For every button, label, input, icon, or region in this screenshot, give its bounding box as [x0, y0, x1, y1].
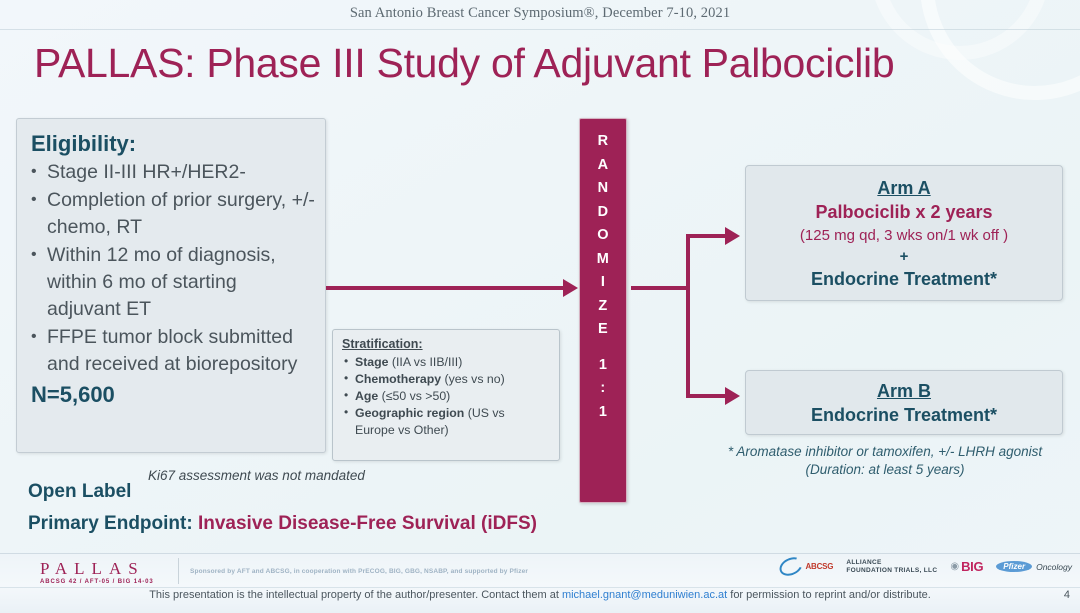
disclaimer-text: This presentation is the intellectual pr… — [0, 589, 1080, 601]
primary-endpoint: Primary Endpoint: Invasive Disease-Free … — [28, 513, 537, 535]
pallas-logo-wordmark: PALLAS — [40, 560, 154, 578]
arm-a-dose: (125 mg qd, 3 wks on/1 wk off ) — [746, 225, 1062, 247]
stratification-factor-detail: (yes vs no) — [445, 372, 505, 386]
randomize-letter: M — [597, 248, 609, 272]
randomize-letter: O — [597, 224, 609, 248]
abcsg-logo: ABCSG — [779, 558, 833, 575]
primary-endpoint-value: Invasive Disease-Free Survival (iDFS) — [198, 513, 537, 534]
big-globe-icon: ◉ — [950, 561, 959, 572]
arm-a-box: Arm A Palbociclib x 2 years (125 mg qd, … — [745, 165, 1063, 301]
arm-footnote: * Aromatase inhibitor or tamoxifen, +/- … — [700, 443, 1070, 479]
randomize-ratio-char: 1 — [599, 354, 607, 378]
arrow-to-arm-a-icon — [686, 234, 736, 238]
arm-b-box: Arm B Endocrine Treatment* — [745, 370, 1063, 435]
footer-divider — [0, 587, 1080, 588]
stratification-factor-detail: (≤50 vs >50) — [382, 389, 451, 403]
alliance-logo-line1: ALLIANCE — [846, 559, 937, 567]
randomize-letter: E — [598, 318, 608, 342]
randomize-letter: N — [598, 177, 609, 201]
stratification-box: Stratification: Stage (IIA vs IIB/III) C… — [332, 329, 560, 461]
page-title: PALLAS: Phase III Study of Adjuvant Palb… — [34, 40, 1054, 87]
eligibility-heading: Eligibility: — [31, 131, 315, 157]
arm-a-endocrine: Endocrine Treatment* — [746, 267, 1062, 291]
list-item: Age (≤50 vs >50) — [342, 388, 551, 405]
open-label-text: Open Label — [28, 481, 131, 503]
arm-a-heading: Arm A — [746, 177, 1062, 200]
arm-footnote-line1: * Aromatase inhibitor or tamoxifen, +/- … — [700, 443, 1070, 461]
arrow-right-icon — [326, 286, 574, 290]
big-logo-text: BIG — [961, 559, 983, 574]
randomize-letter: R — [598, 130, 609, 154]
stratification-heading: Stratification: — [342, 337, 551, 351]
alliance-foundation-trials-logo: ALLIANCE FOUNDATION TRIALS, LLC — [846, 559, 937, 575]
list-item: Chemotherapy (yes vs no) — [342, 371, 551, 388]
disclaimer-after: for permission to reprint and/or distrib… — [727, 589, 931, 601]
eligibility-sample-size: N=5,600 — [31, 382, 315, 408]
footer-logo-group: ABCSG ALLIANCE FOUNDATION TRIALS, LLC ◉ … — [779, 558, 1072, 575]
pfizer-oncology-label: Oncology — [1036, 562, 1072, 572]
randomize-letter: I — [601, 271, 605, 295]
pfizer-oncology-logo: Pfizer Oncology — [996, 561, 1072, 572]
list-item: FFPE tumor block submitted and received … — [31, 324, 315, 378]
stratification-list: Stage (IIA vs IIB/III) Chemotherapy (yes… — [342, 354, 551, 422]
randomize-letter: A — [598, 154, 609, 178]
arm-a-drug: Palbociclib x 2 years — [746, 200, 1062, 225]
stratification-factor-detail: (US vs — [468, 406, 505, 420]
slide: San Antonio Breast Cancer Symposium®, De… — [0, 0, 1080, 613]
arm-b-heading: Arm B — [746, 380, 1062, 403]
arm-footnote-line2: (Duration: at least 5 years) — [700, 461, 1070, 479]
stratification-factor-label: Age — [355, 389, 378, 403]
branch-stem-icon — [631, 286, 688, 290]
list-item: Geographic region (US vs — [342, 405, 551, 422]
randomize-letter: D — [598, 201, 609, 225]
pfizer-logo-text: Pfizer — [996, 561, 1032, 572]
list-item: Stage (IIA vs IIB/III) — [342, 354, 551, 371]
arrow-to-arm-b-icon — [686, 394, 736, 398]
arm-a-plus-symbol: + — [746, 247, 1062, 267]
sponsor-text: Sponsored by AFT and ABCSG, in cooperati… — [190, 568, 528, 575]
pallas-logo: PALLAS ABCSG 42 / AFT-05 / BIG 14-03 — [40, 560, 154, 587]
randomize-ratio-char: : — [600, 377, 605, 401]
stratification-continuation: Europe vs Other) — [342, 422, 551, 439]
presenter-email-link[interactable]: michael.gnant@meduniwien.ac.at — [562, 589, 727, 601]
alliance-logo-line2: FOUNDATION TRIALS, LLC — [846, 567, 937, 575]
branch-vertical-icon — [686, 236, 690, 398]
ki67-note: Ki67 assessment was not mandated — [148, 468, 365, 483]
slide-number: 4 — [1064, 589, 1070, 601]
primary-endpoint-label: Primary Endpoint: — [28, 513, 198, 534]
list-item: Within 12 mo of diagnosis, within 6 mo o… — [31, 242, 315, 323]
eligibility-list: Stage II-III HR+/HER2- Completion of pri… — [31, 159, 315, 378]
conference-header: San Antonio Breast Cancer Symposium®, De… — [0, 5, 1080, 22]
big-logo: ◉ BIG — [950, 559, 983, 574]
randomize-bar: R A N D O M I Z E 1 : 1 — [579, 118, 627, 503]
stratification-factor-label: Geographic region — [355, 406, 464, 420]
pallas-logo-subtitle: ABCSG 42 / AFT-05 / BIG 14-03 — [40, 578, 154, 587]
randomize-ratio-char: 1 — [599, 401, 607, 425]
list-item: Stage II-III HR+/HER2- — [31, 159, 315, 186]
stratification-factor-label: Stage — [355, 355, 389, 369]
header-divider — [0, 29, 1080, 30]
eligibility-box: Eligibility: Stage II-III HR+/HER2- Comp… — [16, 118, 326, 453]
abcsg-logo-text: ABCSG — [805, 562, 833, 571]
stratification-factor-label: Chemotherapy — [355, 372, 441, 386]
footer-logo-divider — [178, 558, 179, 584]
stratification-factor-detail: (IIA vs IIB/III) — [392, 355, 462, 369]
disclaimer-before: This presentation is the intellectual pr… — [149, 589, 562, 601]
randomize-letter: Z — [598, 295, 607, 319]
list-item: Completion of prior surgery, +/- chemo, … — [31, 187, 315, 241]
arm-b-endocrine: Endocrine Treatment* — [746, 403, 1062, 427]
